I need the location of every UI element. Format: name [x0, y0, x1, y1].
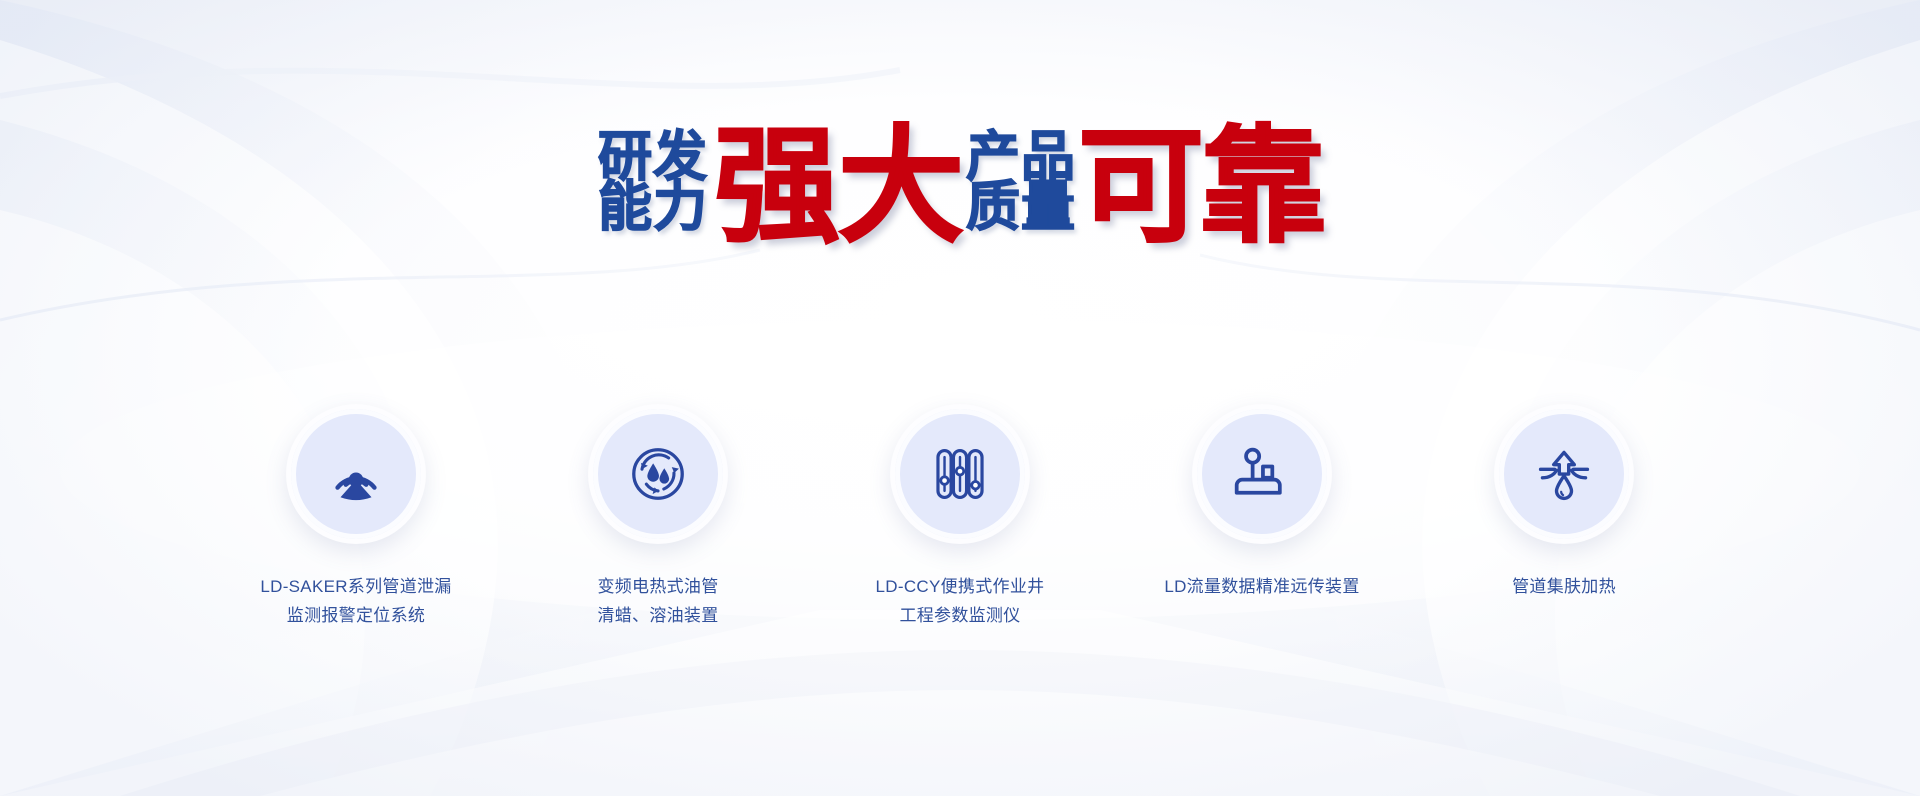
water-drop-recycle-icon — [627, 443, 689, 505]
feature-item-skin-heating[interactable]: 管道集肤加热 — [1439, 404, 1689, 601]
headline-line-nengli: 能力 — [598, 182, 708, 232]
headline-red-qiangda: 强大 — [714, 124, 962, 250]
headline: 研发 能力 强大 产品 质量 可靠 — [0, 128, 1920, 254]
feature-label: 管道集肤加热 — [1512, 572, 1616, 601]
feature-icon-circle — [890, 404, 1030, 544]
feature-label: 变频电热式油管 清蜡、溶油装置 — [597, 572, 718, 630]
feature-icon-circle — [1192, 404, 1332, 544]
feature-item-wax-removal[interactable]: 变频电热式油管 清蜡、溶油装置 — [533, 404, 783, 630]
feature-icon-circle — [1494, 404, 1634, 544]
headline-line-zhiliang: 质量 — [966, 182, 1076, 232]
feature-list: LD-SAKER系列管道泄漏 监测报警定位系统 — [231, 404, 1689, 630]
hero-banner: 研发 能力 强大 产品 质量 可靠 — [0, 0, 1920, 796]
feature-label: LD流量数据精准远传装置 — [1164, 572, 1359, 601]
feature-icon-circle — [588, 404, 728, 544]
headline-blue-left: 研发 能力 — [598, 128, 708, 231]
joystick-transmitter-icon — [1232, 444, 1292, 504]
headline-blue-right: 产品 质量 — [966, 128, 1076, 231]
feature-label: LD-CCY便携式作业井 工程参数监测仪 — [876, 572, 1045, 630]
feature-item-parameter-monitor[interactable]: LD-CCY便携式作业井 工程参数监测仪 — [835, 404, 1085, 630]
pipeline-heating-drop-icon — [1534, 444, 1594, 504]
signal-broadcast-icon — [325, 443, 387, 505]
feature-icon-circle — [286, 404, 426, 544]
feature-item-leak-detection[interactable]: LD-SAKER系列管道泄漏 监测报警定位系统 — [231, 404, 481, 630]
headline-red-kekao: 可靠 — [1078, 124, 1322, 250]
vertical-sliders-icon — [930, 444, 990, 504]
feature-item-flow-telemetry[interactable]: LD流量数据精准远传装置 — [1137, 404, 1387, 601]
feature-label: LD-SAKER系列管道泄漏 监测报警定位系统 — [260, 572, 451, 630]
